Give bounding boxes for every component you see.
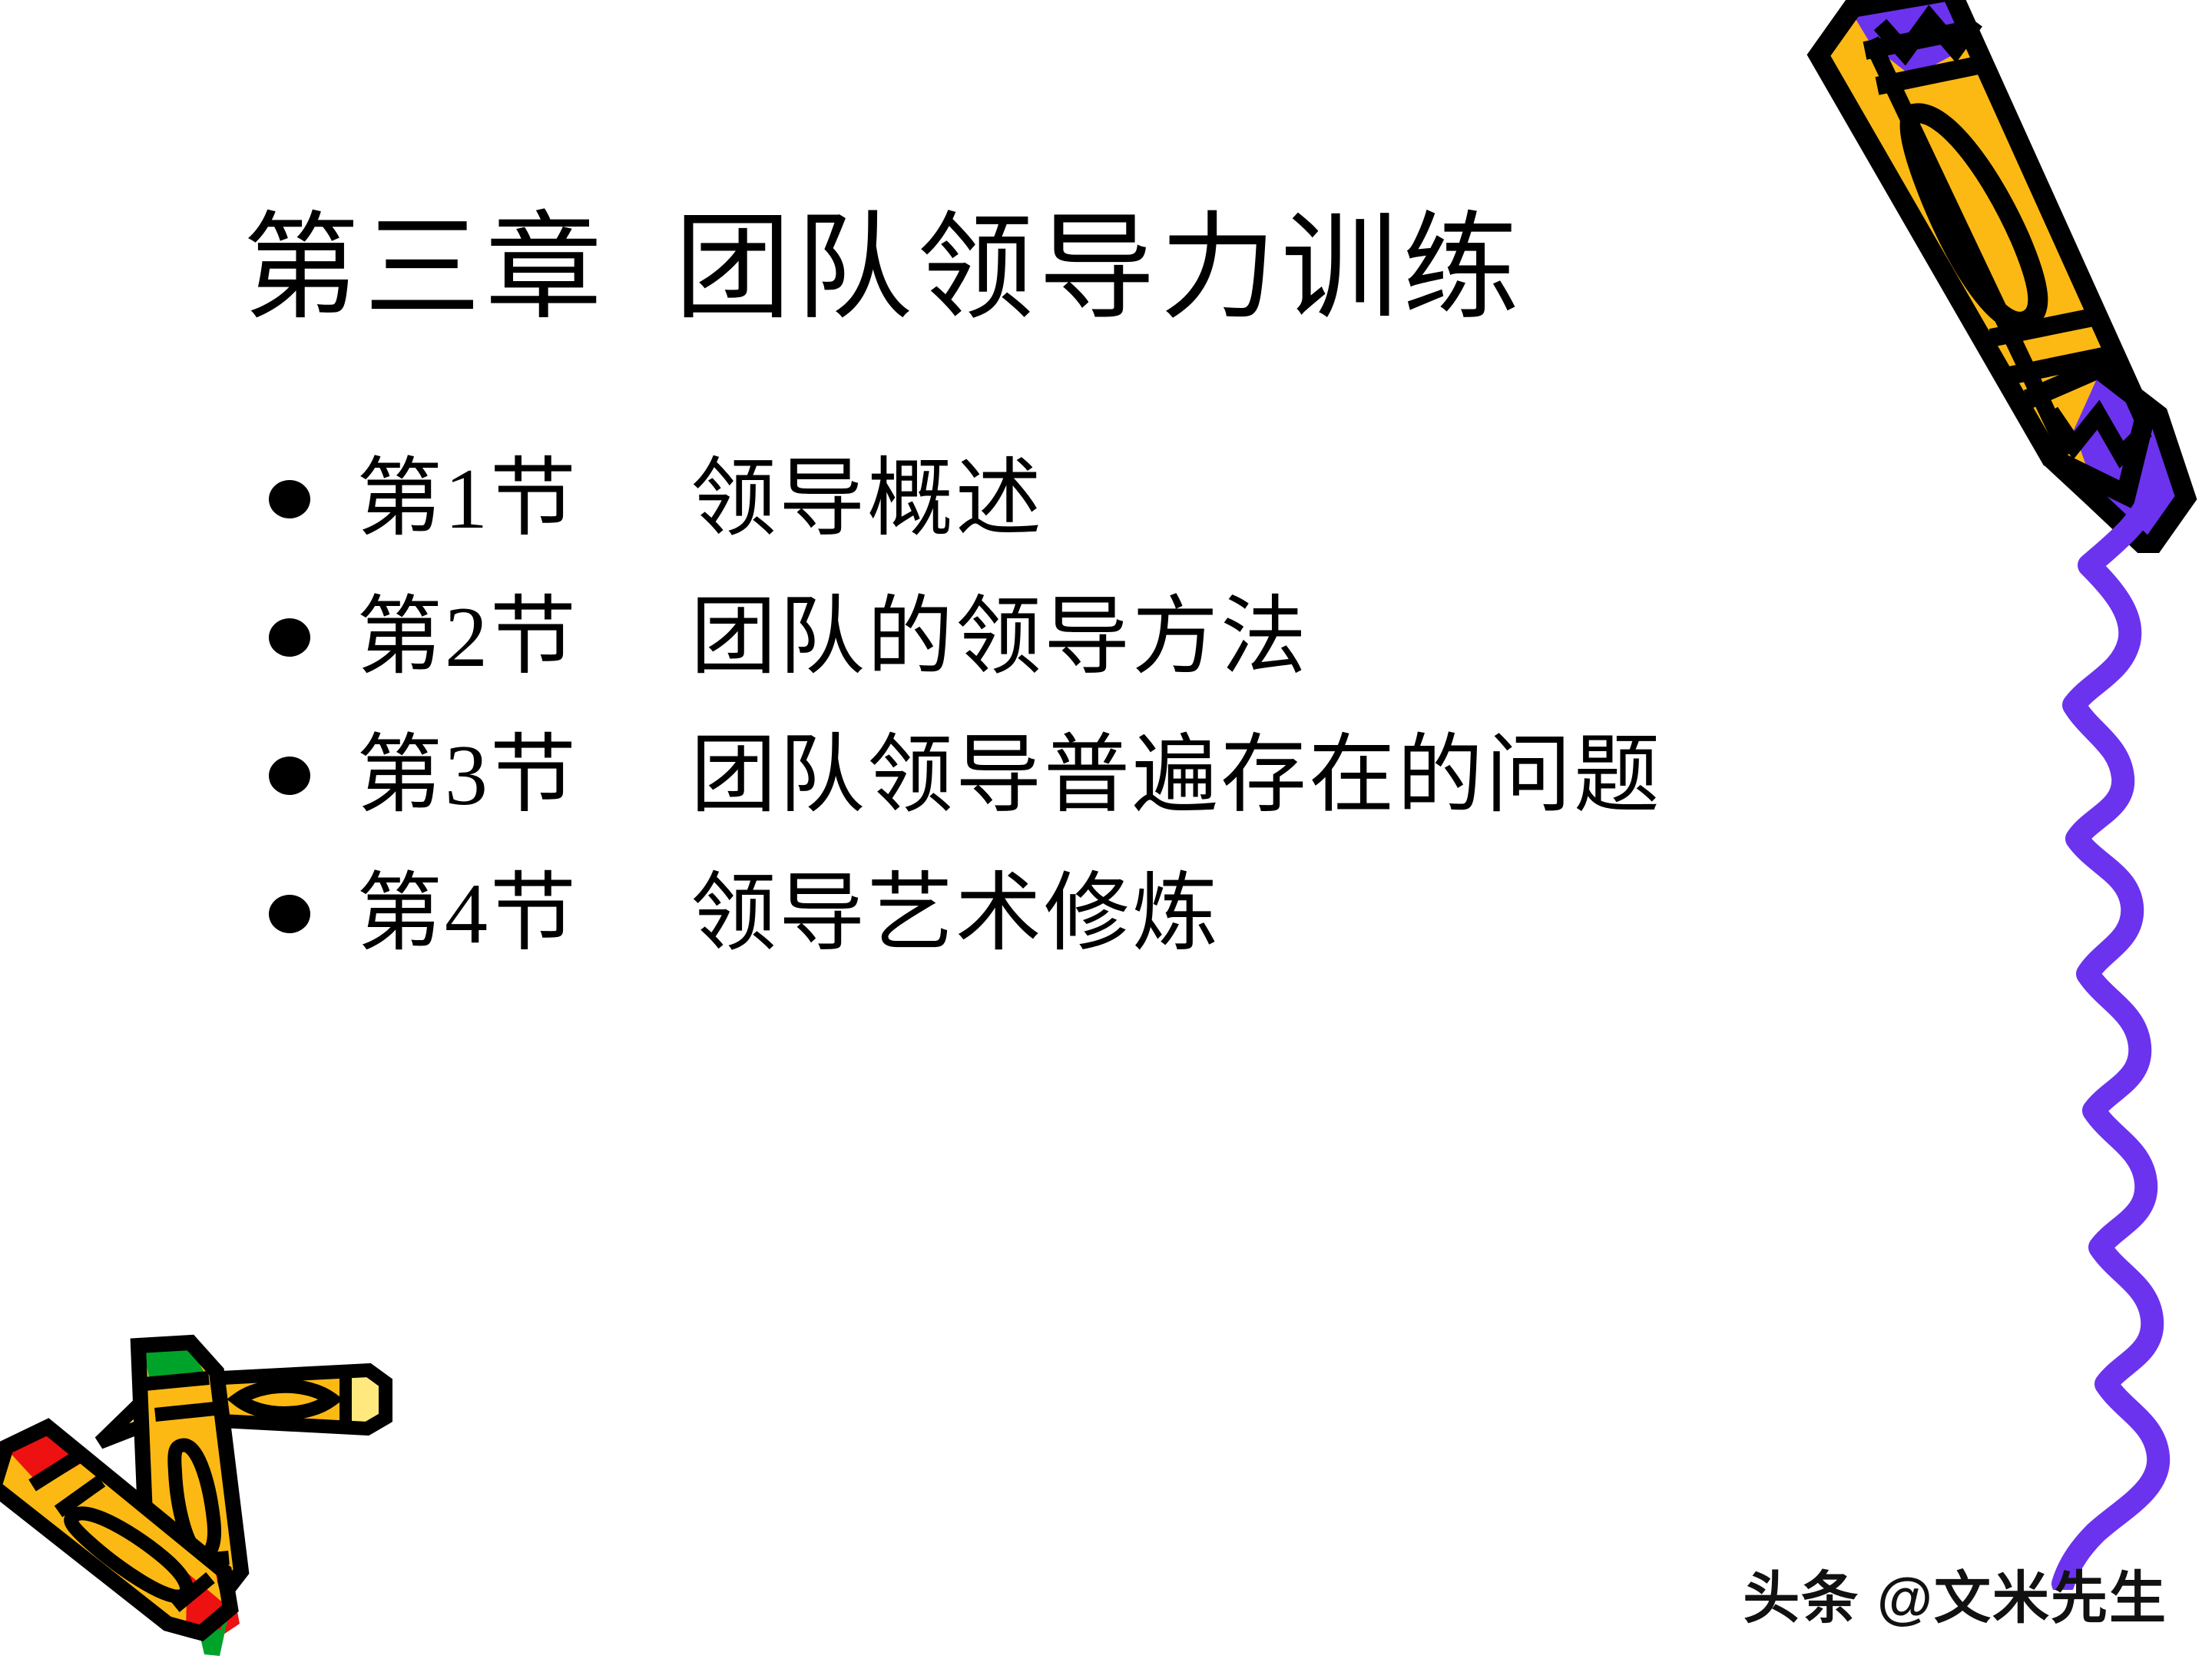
section-list: 第1节 领导概述 第2节 团队的领导方法 第3节 团队领导普遍存在的问题 第4节… bbox=[269, 430, 1959, 983]
bullet-dot-icon bbox=[269, 757, 310, 795]
purple-squiggle-line-icon bbox=[1997, 492, 2181, 1590]
list-item-label: 第1节 领导概述 bbox=[356, 456, 1044, 542]
list-item[interactable]: 第3节 团队领导普遍存在的问题 bbox=[269, 707, 1959, 845]
bullet-dot-icon bbox=[269, 480, 310, 518]
watermark-text: 头条 @文米先生 bbox=[1743, 1552, 2167, 1634]
bullet-dot-icon bbox=[269, 895, 310, 933]
list-item-label: 第4节 领导艺术修炼 bbox=[356, 871, 1220, 957]
bullet-dot-icon bbox=[269, 618, 310, 657]
list-item-label: 第3节 团队领导普遍存在的问题 bbox=[356, 733, 1662, 819]
list-item[interactable]: 第2节 团队的领导方法 bbox=[269, 568, 1959, 707]
slide-title: 第三章 团队领导力训练 bbox=[0, 196, 1767, 342]
crayon-cluster-icon bbox=[0, 1298, 415, 1659]
list-item-label: 第2节 团队的领导方法 bbox=[356, 594, 1309, 680]
list-item[interactable]: 第1节 领导概述 bbox=[269, 430, 1959, 568]
presentation-slide: 第三章 团队领导力训练 第1节 领导概述 第2节 团队的领导方法 第3节 团队领… bbox=[0, 0, 2212, 1659]
list-item[interactable]: 第4节 领导艺术修炼 bbox=[269, 845, 1959, 983]
